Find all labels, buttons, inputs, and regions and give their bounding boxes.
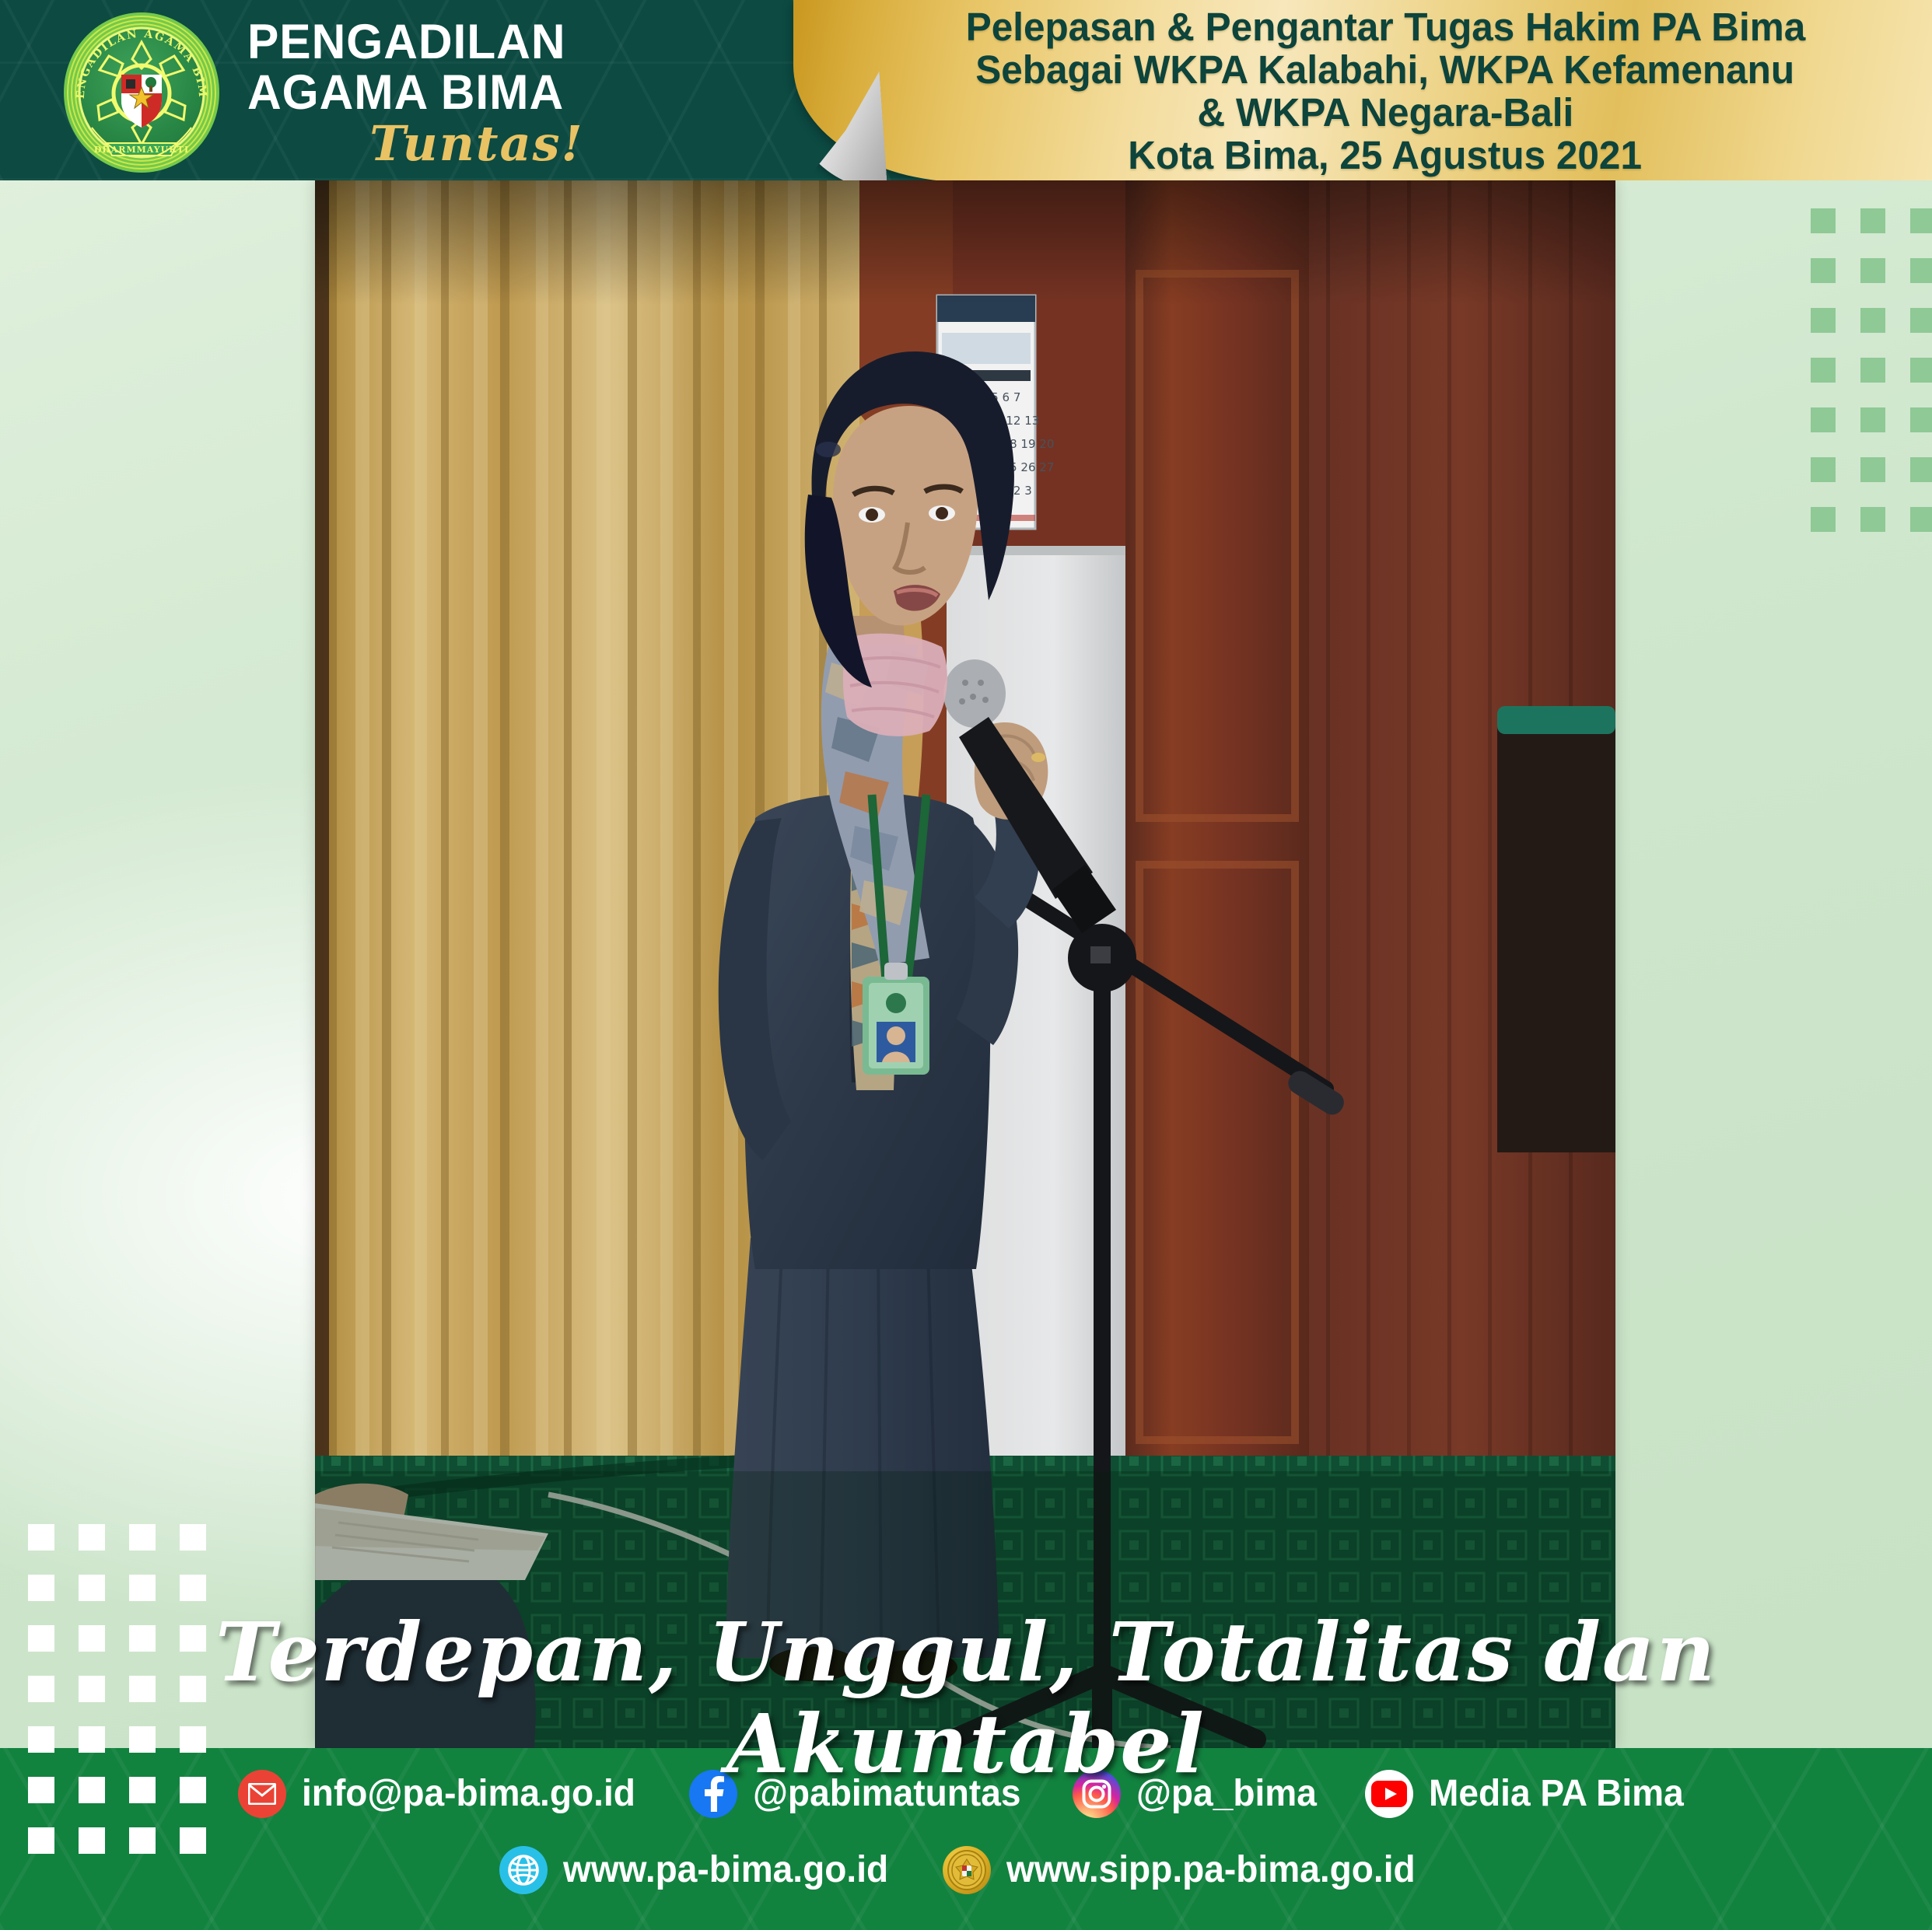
brand-line-1: PENGADILAN bbox=[247, 17, 695, 68]
decor-square bbox=[1860, 407, 1885, 432]
title-ribbon: Pelepasan & Pengantar Tugas Hakim PA Bim… bbox=[793, 0, 1932, 180]
decor-square bbox=[79, 1827, 105, 1854]
brand-tagline-script: Tuntas! bbox=[310, 120, 644, 168]
decor-square bbox=[1811, 208, 1836, 233]
brand-line-2: AGAMA BIMA bbox=[247, 68, 695, 118]
decor-square bbox=[180, 1726, 206, 1753]
youtube-icon bbox=[1365, 1770, 1413, 1818]
court-seal-logo: PENGADILAN AGAMA BIMA bbox=[61, 11, 222, 174]
sipp-seal-icon bbox=[943, 1846, 991, 1894]
decor-square bbox=[79, 1625, 105, 1652]
decor-square bbox=[79, 1777, 105, 1803]
footer-contact-row-2: www.pa-bima.go.id www.sipp.pa-bima.go.id bbox=[0, 1846, 1932, 1894]
right-square-grid bbox=[1811, 208, 1932, 532]
decor-square bbox=[180, 1625, 206, 1652]
decor-square bbox=[28, 1827, 54, 1854]
title-line-3: & WKPA Negara-Bali bbox=[1197, 93, 1573, 132]
facebook-icon bbox=[689, 1770, 737, 1818]
contact-youtube[interactable]: Media PA Bima bbox=[1365, 1770, 1694, 1818]
decor-square bbox=[129, 1777, 156, 1803]
decor-square bbox=[1811, 407, 1836, 432]
decor-square bbox=[1860, 308, 1885, 333]
decor-square bbox=[1860, 208, 1885, 233]
decor-square bbox=[1910, 507, 1932, 532]
mail-icon bbox=[238, 1770, 286, 1818]
decor-square bbox=[28, 1575, 54, 1601]
decor-square bbox=[129, 1726, 156, 1753]
decor-square bbox=[1811, 457, 1836, 482]
decor-square bbox=[1860, 507, 1885, 532]
contact-facebook[interactable]: @pabimatuntas bbox=[689, 1770, 1032, 1818]
contact-sipp-label: www.sipp.pa-bima.go.id bbox=[1006, 1850, 1416, 1890]
decor-square bbox=[1811, 258, 1836, 283]
decor-square bbox=[180, 1827, 206, 1854]
footer-contact-row-1: info@pa-bima.go.id @pabimatuntas bbox=[0, 1770, 1932, 1818]
decor-square bbox=[129, 1575, 156, 1601]
event-photo: 1 2 3 4 5 6 7 8 9 10 11 12 13 15 16 17 1… bbox=[315, 180, 1615, 1748]
decor-square bbox=[1910, 407, 1932, 432]
decor-square bbox=[28, 1625, 54, 1652]
decor-square bbox=[79, 1524, 105, 1551]
brand-block: PENGADILAN AGAMA BIMA Tuntas! bbox=[247, 17, 714, 168]
decor-square bbox=[1910, 258, 1932, 283]
decor-square bbox=[129, 1827, 156, 1854]
decor-square bbox=[79, 1676, 105, 1702]
decor-square bbox=[28, 1726, 54, 1753]
contact-youtube-label: Media PA Bima bbox=[1429, 1774, 1684, 1814]
poster-root: 1 2 3 4 5 6 7 8 9 10 11 12 13 15 16 17 1… bbox=[0, 0, 1932, 1930]
decor-square bbox=[129, 1625, 156, 1652]
decor-square bbox=[1860, 358, 1885, 383]
decor-square bbox=[180, 1524, 206, 1551]
contact-website[interactable]: www.pa-bima.go.id bbox=[499, 1846, 902, 1894]
decor-square bbox=[28, 1676, 54, 1702]
contact-instagram[interactable]: @pa_bima bbox=[1073, 1770, 1325, 1818]
decor-square bbox=[1860, 457, 1885, 482]
title-line-4: Kota Bima, 25 Agustus 2021 bbox=[1129, 135, 1643, 175]
decor-square bbox=[129, 1676, 156, 1702]
decor-square bbox=[79, 1575, 105, 1601]
decor-square bbox=[28, 1777, 54, 1803]
title-line-1: Pelepasan & Pengantar Tugas Hakim PA Bim… bbox=[965, 7, 1805, 47]
contact-facebook-label: @pabimatuntas bbox=[753, 1774, 1021, 1814]
contact-email[interactable]: info@pa-bima.go.id bbox=[238, 1770, 649, 1818]
decor-square bbox=[1910, 308, 1932, 333]
decor-square bbox=[129, 1524, 156, 1551]
decor-square bbox=[180, 1676, 206, 1702]
contact-website-label: www.pa-bima.go.id bbox=[563, 1850, 888, 1890]
decor-square bbox=[1910, 457, 1932, 482]
contact-instagram-label: @pa_bima bbox=[1136, 1774, 1317, 1814]
title-line-2: Sebagai WKPA Kalabahi, WKPA Kefamenanu bbox=[976, 50, 1795, 89]
contact-sipp[interactable]: www.sipp.pa-bima.go.id bbox=[943, 1846, 1433, 1894]
instagram-icon bbox=[1073, 1770, 1121, 1818]
decor-square bbox=[79, 1726, 105, 1753]
decor-square bbox=[1910, 358, 1932, 383]
globe-icon bbox=[499, 1846, 548, 1894]
decor-square bbox=[1910, 208, 1932, 233]
decor-square bbox=[1811, 358, 1836, 383]
footer-bar: info@pa-bima.go.id @pabimatuntas bbox=[0, 1748, 1932, 1930]
header-bar: PENGADILAN AGAMA BIMA bbox=[0, 0, 1932, 180]
decor-square bbox=[1811, 308, 1836, 333]
decor-square bbox=[180, 1575, 206, 1601]
decor-square bbox=[1811, 507, 1836, 532]
svg-text:DHARMMAYUKTI: DHARMMAYUKTI bbox=[94, 145, 189, 155]
decor-square bbox=[1860, 258, 1885, 283]
decor-square bbox=[180, 1777, 206, 1803]
left-square-grid bbox=[28, 1524, 206, 1854]
decor-square bbox=[28, 1524, 54, 1551]
contact-email-label: info@pa-bima.go.id bbox=[302, 1774, 635, 1814]
